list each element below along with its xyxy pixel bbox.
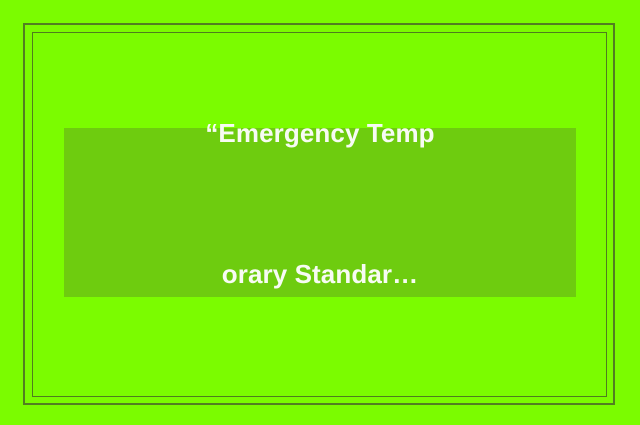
quote-panel: “Emergency Temp orary Standar… <box>64 128 576 297</box>
quote-line-2: orary Standar… <box>205 251 434 298</box>
quote-card: “Emergency Temp orary Standar… <box>0 0 640 425</box>
quote-text-block: “Emergency Temp orary Standar… <box>205 16 434 392</box>
quote-line-1: “Emergency Temp <box>205 110 434 157</box>
